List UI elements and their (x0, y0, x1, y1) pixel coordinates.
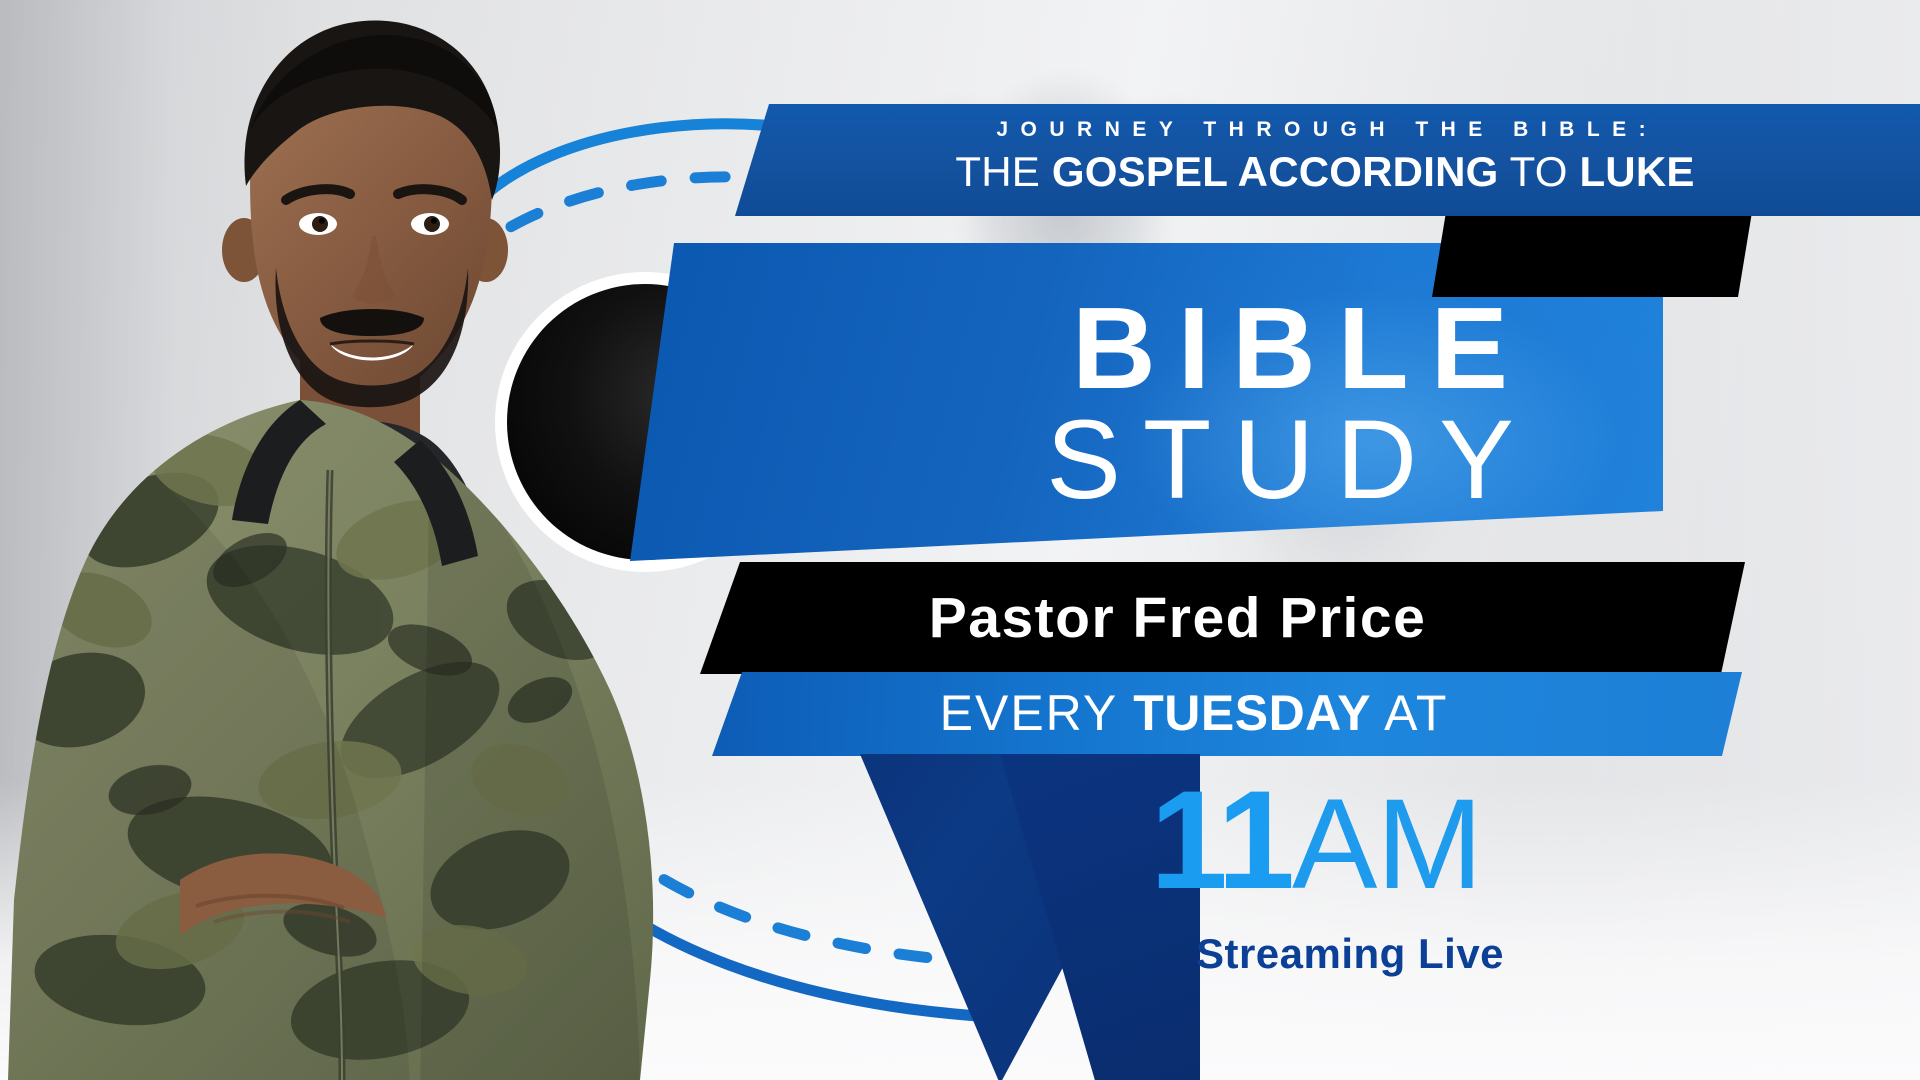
promo-graphic-canvas: JOURNEY THROUGH THE BIBLE: THE GOSPEL AC… (0, 0, 1920, 1080)
portrait-head (222, 21, 508, 408)
series-banner: JOURNEY THROUGH THE BIBLE: THE GOSPEL AC… (735, 104, 1920, 216)
schedule-band: EVERY TUESDAY AT (712, 672, 1742, 756)
title-line-study: STUDY (920, 404, 1640, 516)
series-kicker: JOURNEY THROUGH THE BIBLE: (735, 118, 1907, 142)
time-meridiem: AM (1292, 773, 1482, 916)
series-mid: TO (1498, 148, 1579, 195)
title-line-bible: BIBLE (930, 290, 1650, 406)
schedule-day: TUESDAY (1133, 685, 1371, 741)
series-bold-1: GOSPEL ACCORDING (1052, 148, 1499, 195)
series-prefix: THE (955, 148, 1051, 195)
schedule-at: AT (1371, 685, 1448, 741)
schedule-every: EVERY (940, 685, 1134, 741)
speaker-portrait (0, 0, 860, 1080)
broadcast-time: 11AM (1150, 770, 1610, 910)
streaming-label: Streaming Live (1150, 930, 1550, 978)
series-title: THE GOSPEL ACCORDING TO LUKE (735, 148, 1915, 196)
time-hour: 11 (1150, 761, 1292, 918)
series-bold-2: LUKE (1579, 148, 1694, 195)
